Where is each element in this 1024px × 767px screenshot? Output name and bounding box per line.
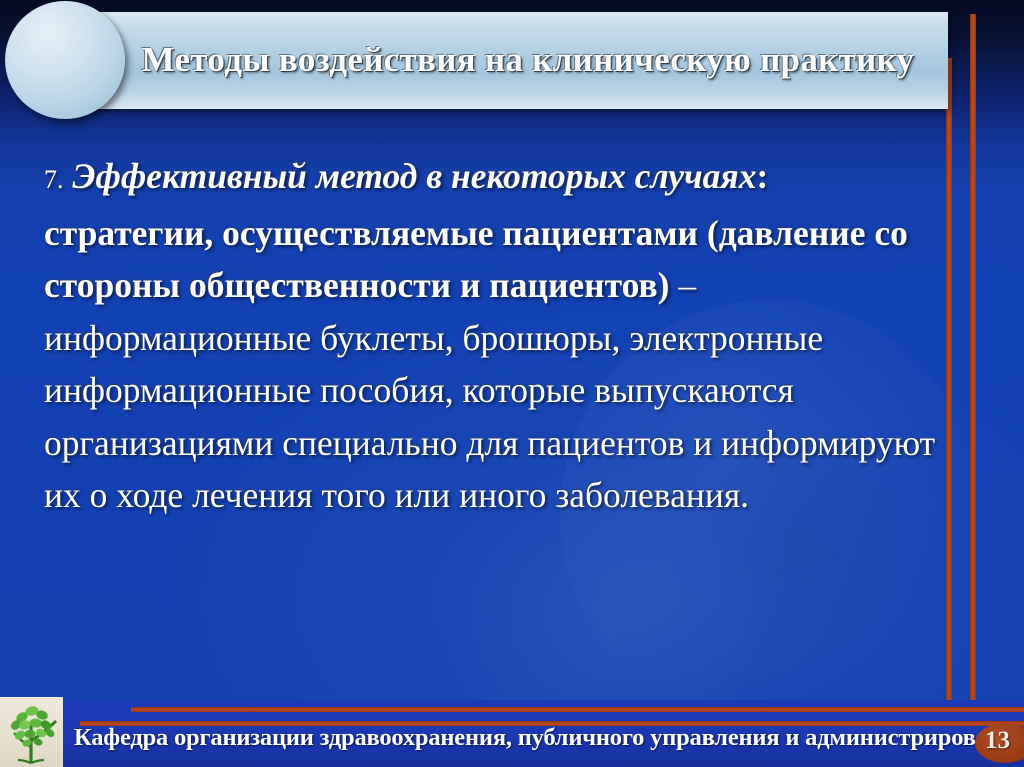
bold-clause: стратегии, осуществляемые пациентами (да… (44, 213, 908, 306)
em-dash: – (678, 265, 696, 305)
page-title: Методы воздействия на клиническую практи… (118, 38, 938, 82)
title-bullet-circle-decoration (5, 1, 125, 119)
presentation-slide: Методы воздействия на клиническую практи… (0, 0, 1024, 767)
horizontal-accent-rule-top (131, 707, 1024, 712)
footer-department-label: Кафедра организации здравоохранения, пуб… (74, 724, 936, 752)
body-remainder: информационные буклеты, брошюры, электро… (44, 318, 935, 516)
tree-plant-icon (0, 697, 63, 767)
lead-emphasis-text: Эффективный метод в некоторых случаях (72, 156, 756, 196)
body-paragraph: 7. Эффективный метод в некоторых случаях… (44, 150, 937, 522)
slide-body-text: 7. Эффективный метод в некоторых случаях… (44, 150, 937, 522)
item-number: 7. (44, 165, 64, 194)
colon-separator: : (756, 156, 768, 196)
vertical-accent-rule-outer (970, 14, 976, 767)
title-banner: Методы воздействия на клиническую практи… (62, 12, 948, 109)
vertical-accent-rule-inner (946, 58, 952, 767)
page-number: 13 (985, 727, 1010, 755)
